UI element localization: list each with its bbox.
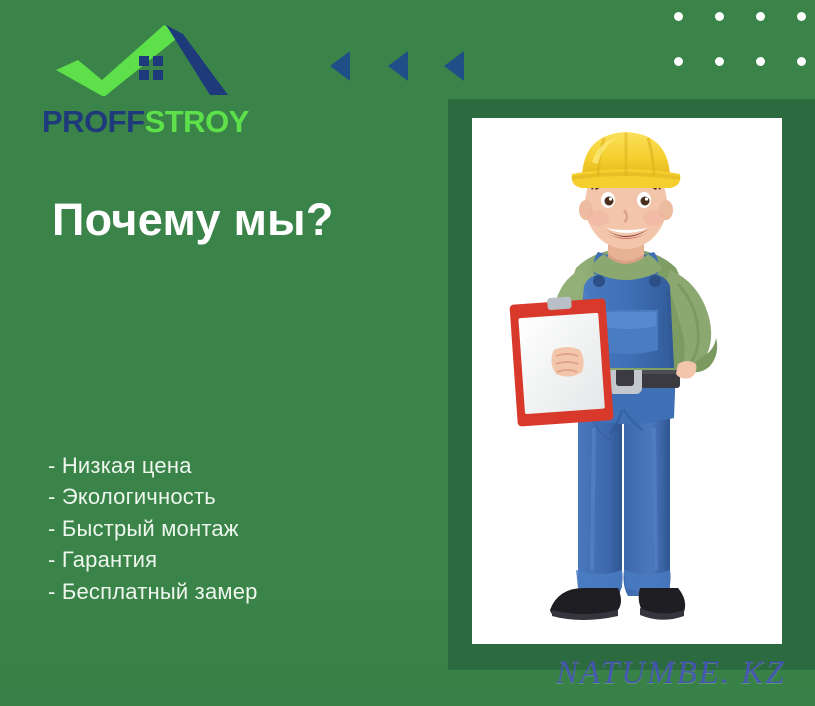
grid-dot (797, 12, 806, 21)
grid-dot (756, 57, 765, 66)
image-frame (448, 99, 815, 670)
list-item: - Экологичность (48, 481, 398, 512)
list-item: - Бесплатный замер (48, 576, 398, 607)
logo-word-secondary: STROY (145, 104, 249, 139)
grid-dot (674, 57, 683, 66)
image-card (472, 118, 782, 644)
left-triangle-icon (444, 51, 464, 81)
list-item: - Гарантия (48, 544, 398, 575)
grid-dot (797, 57, 806, 66)
logo-wordmark: PROFFSTROY (42, 106, 249, 137)
brand-logo: PROFFSTROY (36, 22, 266, 137)
list-item: - Быстрый монтаж (48, 513, 398, 544)
logo-word-primary: PROFF (42, 104, 145, 139)
list-item: - Низкая цена (48, 450, 398, 481)
grid-dot (674, 12, 683, 21)
poster-canvas: PROFFSTROY Почему мы? - Низкая цена - Эк… (0, 0, 815, 706)
page-title: Почему мы? (52, 196, 334, 243)
grid-dot (715, 57, 724, 66)
arrow-decoration-group (326, 45, 476, 87)
left-triangle-icon (330, 51, 350, 81)
grid-dot (715, 12, 724, 21)
left-triangle-icon (388, 51, 408, 81)
grid-dot (756, 12, 765, 21)
construction-worker-illustration (472, 118, 782, 644)
benefits-list: - Низкая цена - Экологичность - Быстрый … (48, 450, 398, 607)
watermark: NATUMBE. KZ (556, 655, 786, 692)
logo-mark-icon (36, 22, 266, 96)
